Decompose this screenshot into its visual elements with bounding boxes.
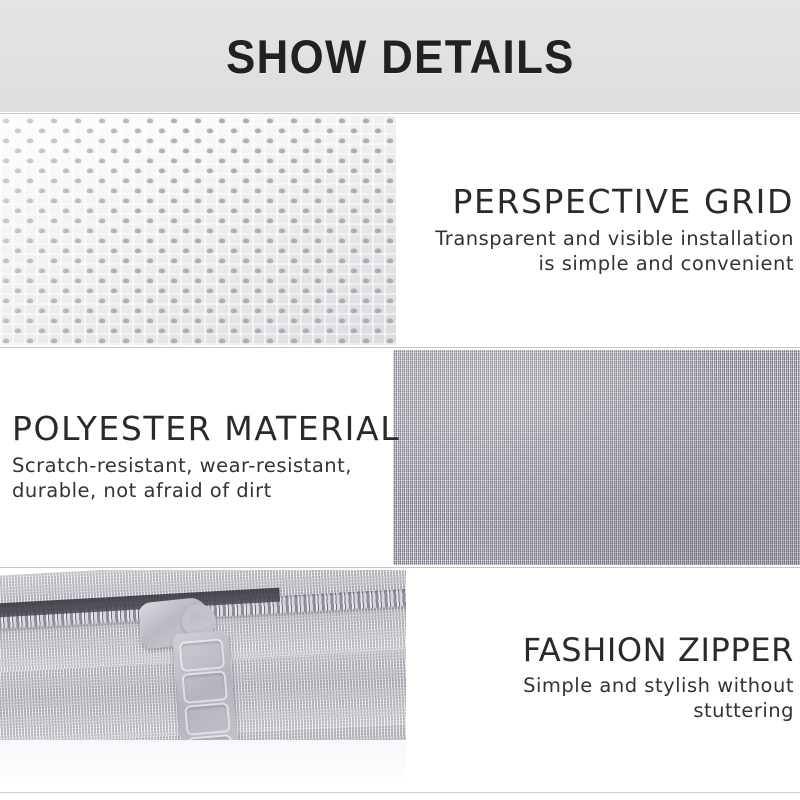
section-copy-polyester-material: POLYESTER MATERIAL Scratch-resistant, we… [0, 350, 393, 565]
page-title: SHOW DETAILS [226, 29, 575, 84]
photo-backdrop [0, 740, 406, 786]
mesh-texture [0, 116, 396, 345]
section-fashion-zipper: FASHION ZIPPER Simple and stylish withou… [0, 570, 800, 786]
zipper-illustration [0, 570, 406, 786]
body-line: Transparent and visible installation [406, 227, 794, 252]
section-copy-perspective-grid: PERSPECTIVE GRID Transparent and visible… [396, 116, 800, 345]
body-line: Scratch-resistant, wear-resistant, [12, 454, 383, 479]
section-copy-fashion-zipper: FASHION ZIPPER Simple and stylish withou… [396, 570, 800, 786]
section-polyester-material: POLYESTER MATERIAL Scratch-resistant, we… [0, 350, 800, 565]
body-line: stuttering [406, 699, 794, 724]
divider-under-header [0, 113, 800, 114]
divider-section-1-bottom [0, 347, 800, 348]
header-banner: SHOW DETAILS [0, 0, 800, 112]
polyester-fabric-photo [393, 350, 800, 565]
mesh-fabric-photo [0, 116, 396, 345]
zipper-photo [0, 570, 406, 786]
section-title-perspective-grid: PERSPECTIVE GRID [406, 184, 794, 221]
section-title-fashion-zipper: FASHION ZIPPER [406, 633, 794, 669]
divider-page-bottom [0, 792, 800, 793]
body-line: Simple and stylish without [406, 674, 794, 699]
section-body-fashion-zipper: Simple and stylish without stuttering [406, 674, 794, 723]
fabric-texture [393, 350, 800, 565]
divider-section-2-bottom [0, 567, 800, 568]
body-line: is simple and convenient [406, 252, 794, 277]
section-title-polyester-material: POLYESTER MATERIAL [12, 411, 383, 448]
section-body-polyester-material: Scratch-resistant, wear-resistant, durab… [12, 454, 383, 503]
body-line: durable, not afraid of dirt [12, 479, 383, 504]
product-detail-page: SHOW DETAILS PERSPECTIVE GRID Transparen… [0, 0, 800, 800]
section-perspective-grid: PERSPECTIVE GRID Transparent and visible… [0, 116, 800, 345]
section-body-perspective-grid: Transparent and visible installation is … [406, 227, 794, 276]
